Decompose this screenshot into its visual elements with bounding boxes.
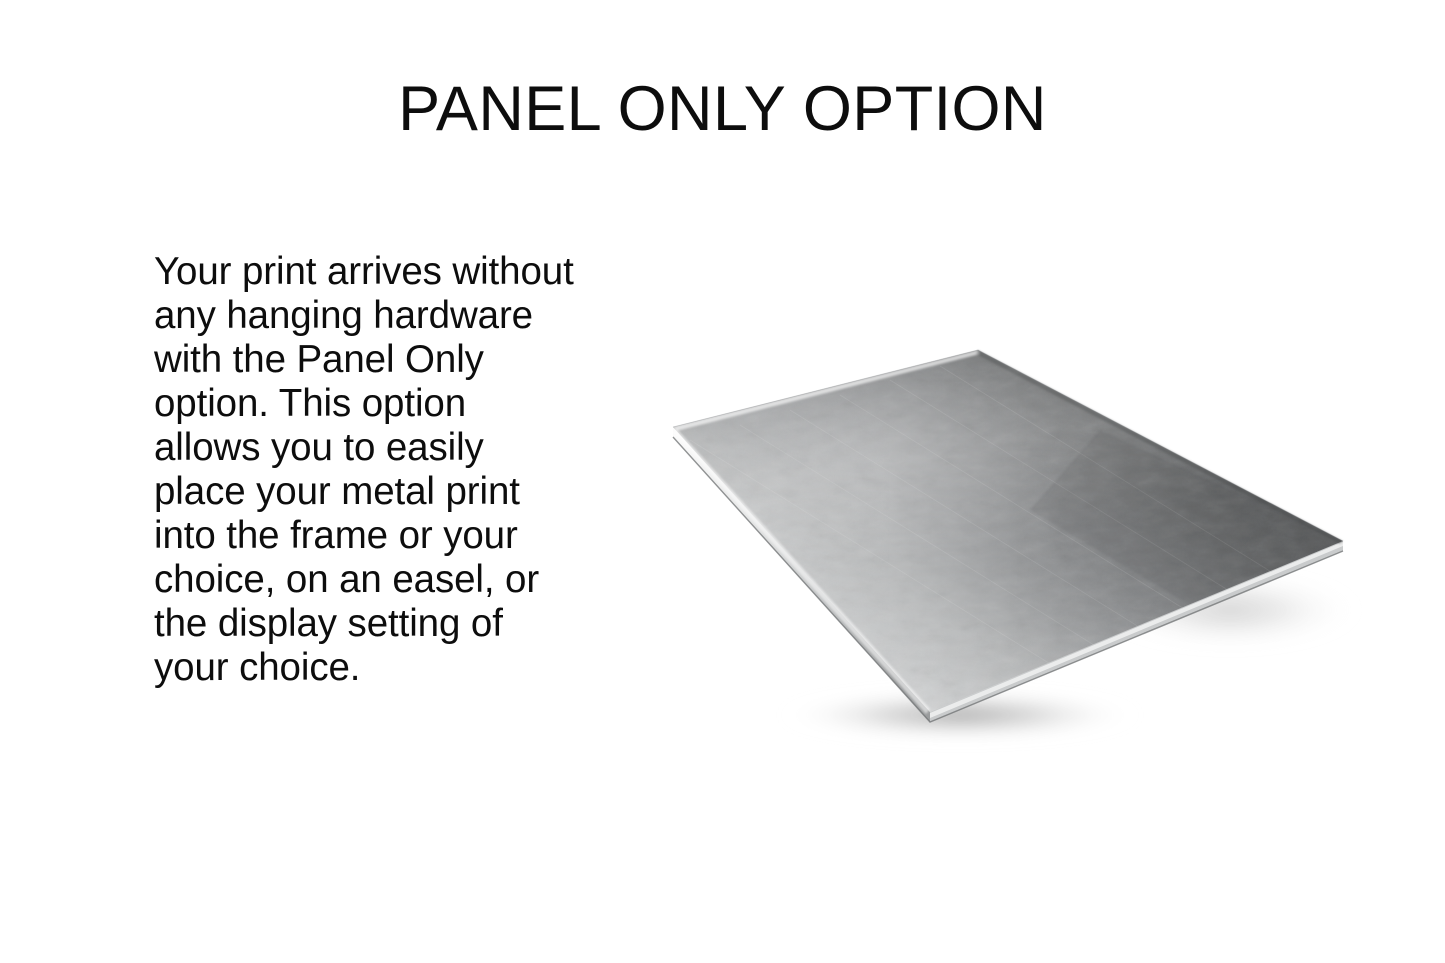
- slide-canvas: PANEL ONLY OPTION Your print arrives wit…: [0, 0, 1445, 963]
- body-paragraph: Your print arrives without any hanging h…: [154, 250, 574, 690]
- page-title: PANEL ONLY OPTION: [0, 78, 1445, 141]
- metal-panel-svg: [630, 310, 1410, 760]
- metal-panel-image: [630, 310, 1410, 760]
